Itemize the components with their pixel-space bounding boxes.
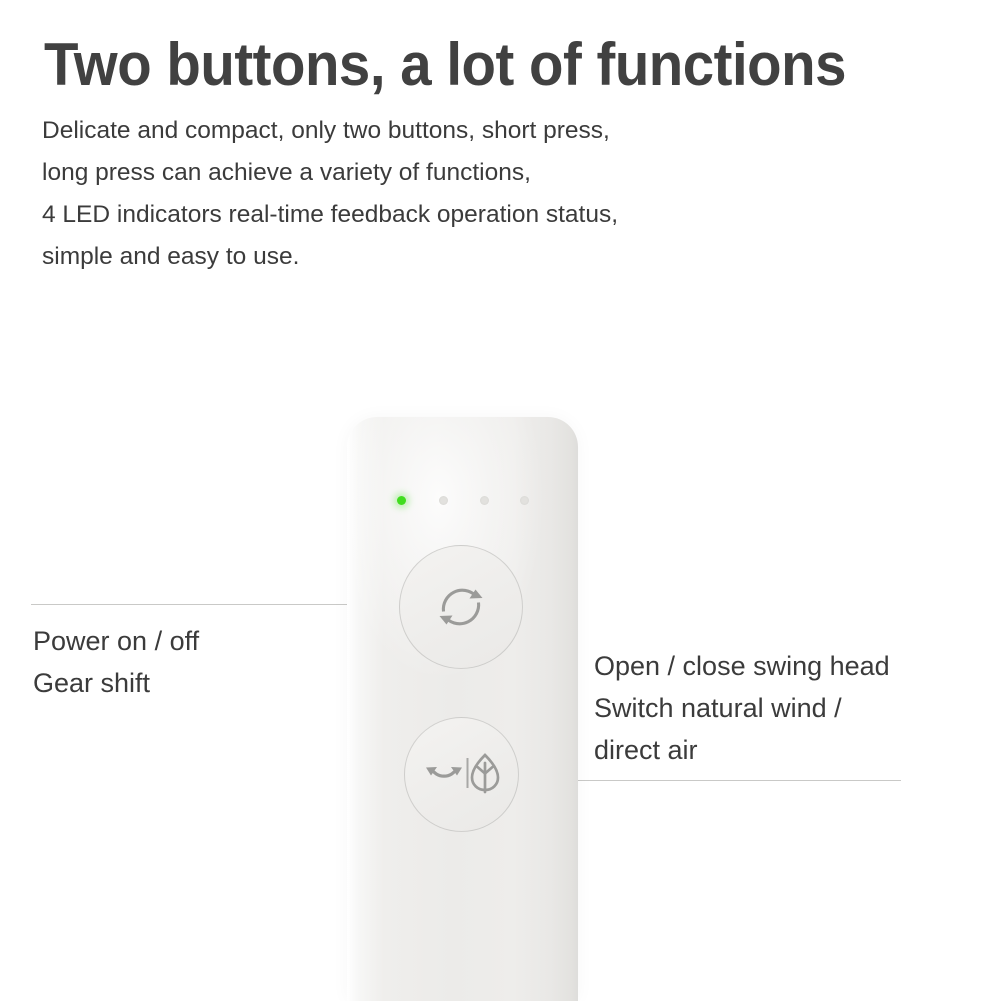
callout-left-line: Gear shift <box>33 662 199 704</box>
swing-and-leaf-icon-group <box>424 751 500 799</box>
callout-right-line: Switch natural wind / <box>594 687 890 729</box>
led-indicator-active <box>397 496 406 505</box>
remote-control-device <box>347 417 578 1001</box>
callout-right-line: Open / close swing head <box>594 645 890 687</box>
page-title: Two buttons, a lot of functions <box>44 34 918 96</box>
led-indicator-inactive <box>520 496 529 505</box>
led-indicator-inactive <box>439 496 448 505</box>
power-gear-button[interactable] <box>399 545 523 669</box>
callout-right-line: direct air <box>594 729 890 771</box>
led-indicator-inactive <box>480 496 489 505</box>
callout-left: Power on / off Gear shift <box>33 620 199 704</box>
description-line: long press can achieve a variety of func… <box>42 152 742 194</box>
swing-arc-arrows-icon <box>426 767 462 776</box>
led-indicator-row <box>397 494 537 508</box>
leader-line-right <box>549 780 901 781</box>
refresh-cycle-icon <box>433 579 489 635</box>
swing-natural-wind-button[interactable] <box>404 717 519 832</box>
leader-line-left <box>31 604 391 605</box>
callout-left-line: Power on / off <box>33 620 199 662</box>
description-line: Delicate and compact, only two buttons, … <box>42 110 742 152</box>
description-line: simple and easy to use. <box>42 236 742 278</box>
callout-right: Open / close swing head Switch natural w… <box>594 645 890 771</box>
description-block: Delicate and compact, only two buttons, … <box>42 110 742 278</box>
leaf-icon <box>472 755 498 792</box>
description-line: 4 LED indicators real-time feedback oper… <box>42 194 742 236</box>
product-feature-infographic: Two buttons, a lot of functions Delicate… <box>0 0 1001 1001</box>
